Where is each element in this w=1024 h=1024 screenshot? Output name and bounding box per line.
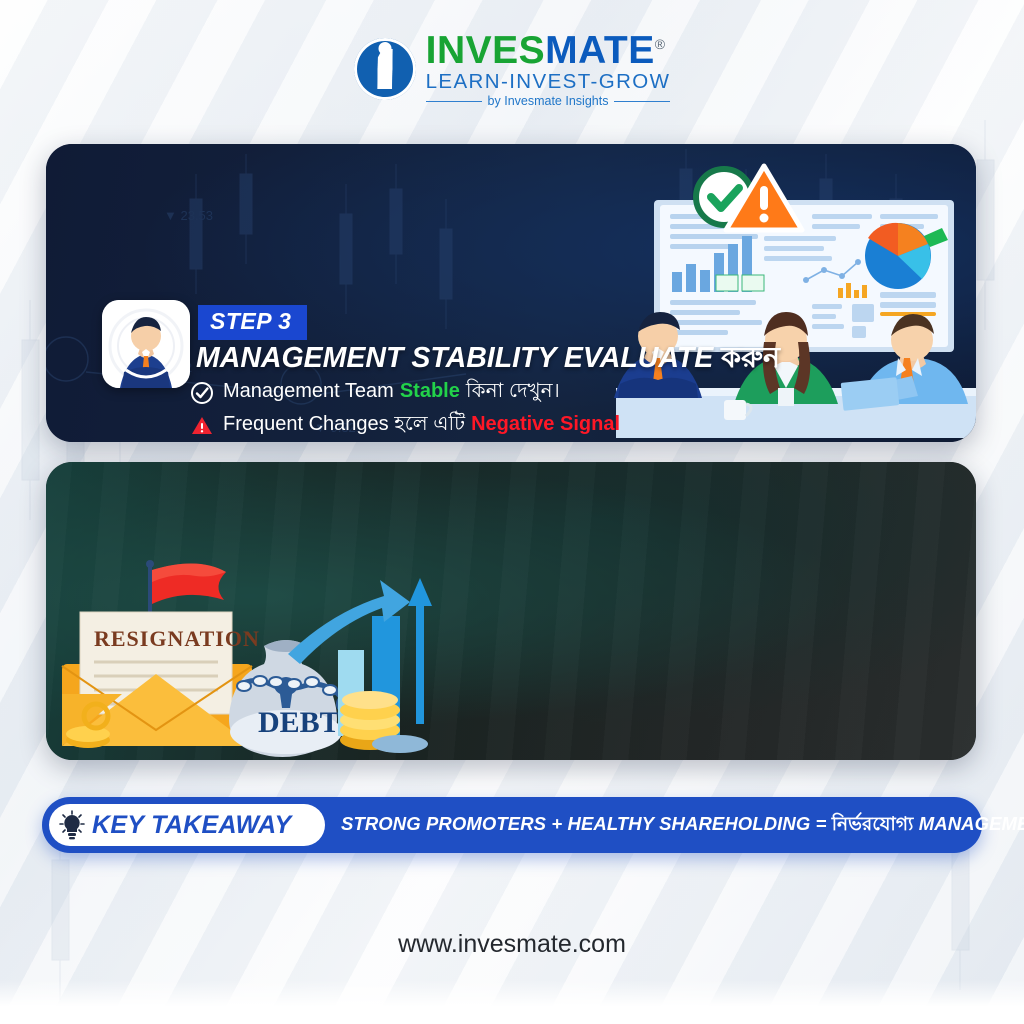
key-takeaway-pill: KEY TAKEAWAY (49, 804, 325, 846)
step3-bullet-2-highlight: Negative Signal (471, 413, 620, 436)
byline-rule-right (614, 101, 670, 102)
brand-byline: by Invesmate Insights (488, 95, 609, 108)
resignation-debt-illustration: RESIGNATION DEBT (52, 554, 472, 760)
step3-badge: STEP 3 (198, 305, 307, 340)
step3-heading-bn: করুন (721, 342, 780, 374)
invesmate-i-logo-icon (354, 38, 416, 100)
registered-mark: ® (655, 36, 666, 52)
footer-fade (0, 980, 1024, 1024)
boardroom-presentation-illustration (606, 152, 976, 442)
step3-bullet-1-post: কিনা দেখুন। (466, 376, 560, 409)
svg-text:RESIGNATION: RESIGNATION (94, 626, 260, 651)
money-bag-chained-icon: DEBT (229, 640, 351, 757)
step3-bullet-1: Management Team Stable কিনা দেখুন। (190, 376, 560, 409)
key-takeaway-label: KEY TAKEAWAY (92, 811, 291, 840)
brand-name-part1: INVES (426, 29, 546, 72)
step4-card: RESIGNATION DEBT (46, 462, 976, 760)
brand-byline-row: by Invesmate Insights (426, 95, 671, 108)
check-circle-icon (190, 381, 214, 405)
step3-heading-en: MANAGEMENT STABILITY EVALUATE (196, 342, 713, 374)
brand-name-part2: MATE (545, 29, 655, 72)
key-takeaway-statement-bn: নির্ভরযোগ্য (832, 813, 914, 834)
footer-url: www.invesmate.com (0, 930, 1024, 959)
brand-tagline: LEARN-INVEST-GROW (426, 72, 671, 93)
step3-bullet-1-pre: Management Team (223, 380, 394, 403)
key-takeaway-statement-start: STRONG PROMOTERS + HEALTHY SHAREHOLDING … (341, 813, 832, 834)
step3-bullet-2: Frequent Changes হলে এটি Negative Signal (190, 409, 620, 442)
warning-triangle-icon (190, 414, 214, 438)
svg-text:DEBT: DEBT (258, 706, 340, 739)
lightbulb-icon (59, 810, 85, 840)
step3-bullet-1-highlight: Stable (400, 380, 460, 403)
businessman-avatar-icon (102, 300, 190, 388)
step3-card: ▼ 23.53 ▼ 11.32 ▼ 9.32 (46, 144, 976, 442)
key-takeaway-bar: KEY TAKEAWAY STRONG PROMOTERS + HEALTHY … (42, 797, 982, 853)
key-takeaway-statement-end: MANAGEMENT (913, 813, 1024, 834)
step3-bullet-2-pre: Frequent Changes হলে এটি (223, 409, 465, 442)
byline-rule-left (426, 101, 482, 102)
svg-text:▼ 23.53: ▼ 23.53 (164, 208, 213, 223)
brand-logo: INVESMATE® LEARN-INVEST-GROW by Invesmat… (0, 26, 1024, 112)
key-takeaway-statement: STRONG PROMOTERS + HEALTHY SHAREHOLDING … (341, 810, 1024, 841)
brand-name: INVESMATE® (426, 31, 671, 70)
